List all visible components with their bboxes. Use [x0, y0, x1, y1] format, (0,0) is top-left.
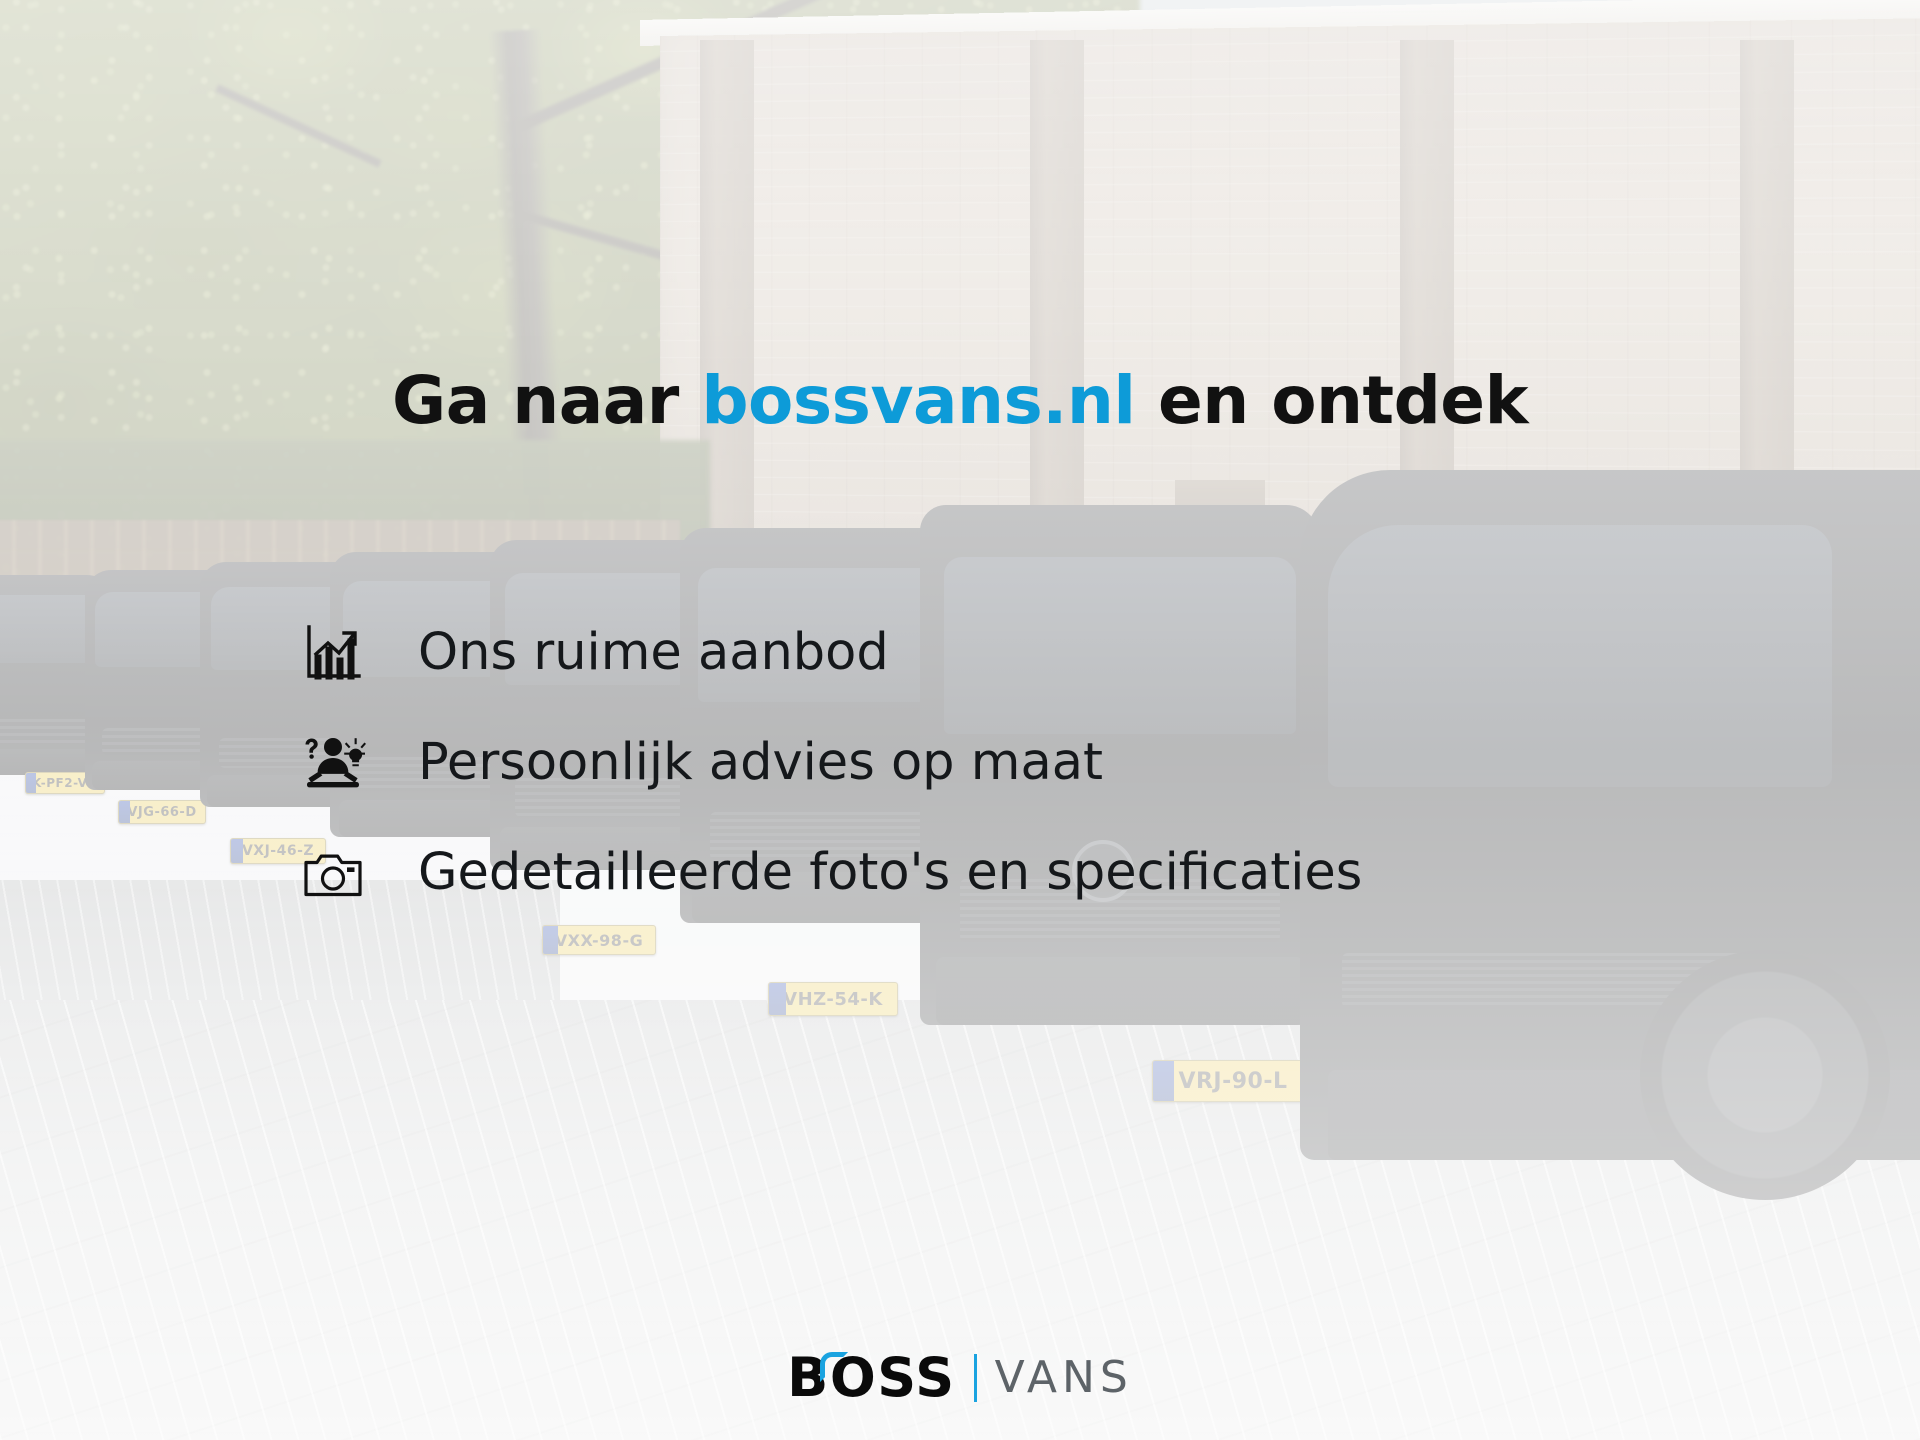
- logo-vans-text: VANS: [995, 1352, 1133, 1403]
- headline-part-before: Ga naar: [392, 362, 701, 439]
- headline-part-after: en ontdek: [1135, 362, 1527, 439]
- logo-boss-wordmark: BOSS: [787, 1346, 955, 1409]
- logo-divider: [974, 1354, 977, 1402]
- list-item: Ons ruime aanbod: [300, 622, 1362, 684]
- page-title: Ga naar bossvans.nl en ontdek: [0, 366, 1920, 435]
- list-item: Persoonlijk advies op maat: [300, 732, 1362, 794]
- brand-logo[interactable]: BOSS VANS: [0, 1346, 1920, 1409]
- list-item: Gedetailleerde foto's en specificaties: [300, 842, 1362, 904]
- logo-boss-text: BOSS: [787, 1346, 955, 1409]
- list-item-label: Ons ruime aanbod: [418, 624, 889, 681]
- person-advice-idea-icon: [300, 732, 366, 794]
- list-item-label: Persoonlijk advies op maat: [418, 734, 1103, 791]
- list-item-label: Gedetailleerde foto's en specificaties: [418, 844, 1362, 901]
- camera-icon: [300, 842, 366, 904]
- slide-content: Ga naar bossvans.nl en ontdek Ons ruime: [0, 0, 1920, 1440]
- bar-chart-growth-icon: [300, 622, 366, 684]
- headline-brand-link[interactable]: bossvans.nl: [701, 362, 1135, 439]
- slide-canvas: K-PF2-VN VJG-66-D VXJ-46-Z: [0, 0, 1920, 1440]
- feature-list: Ons ruime aanbod: [300, 622, 1362, 904]
